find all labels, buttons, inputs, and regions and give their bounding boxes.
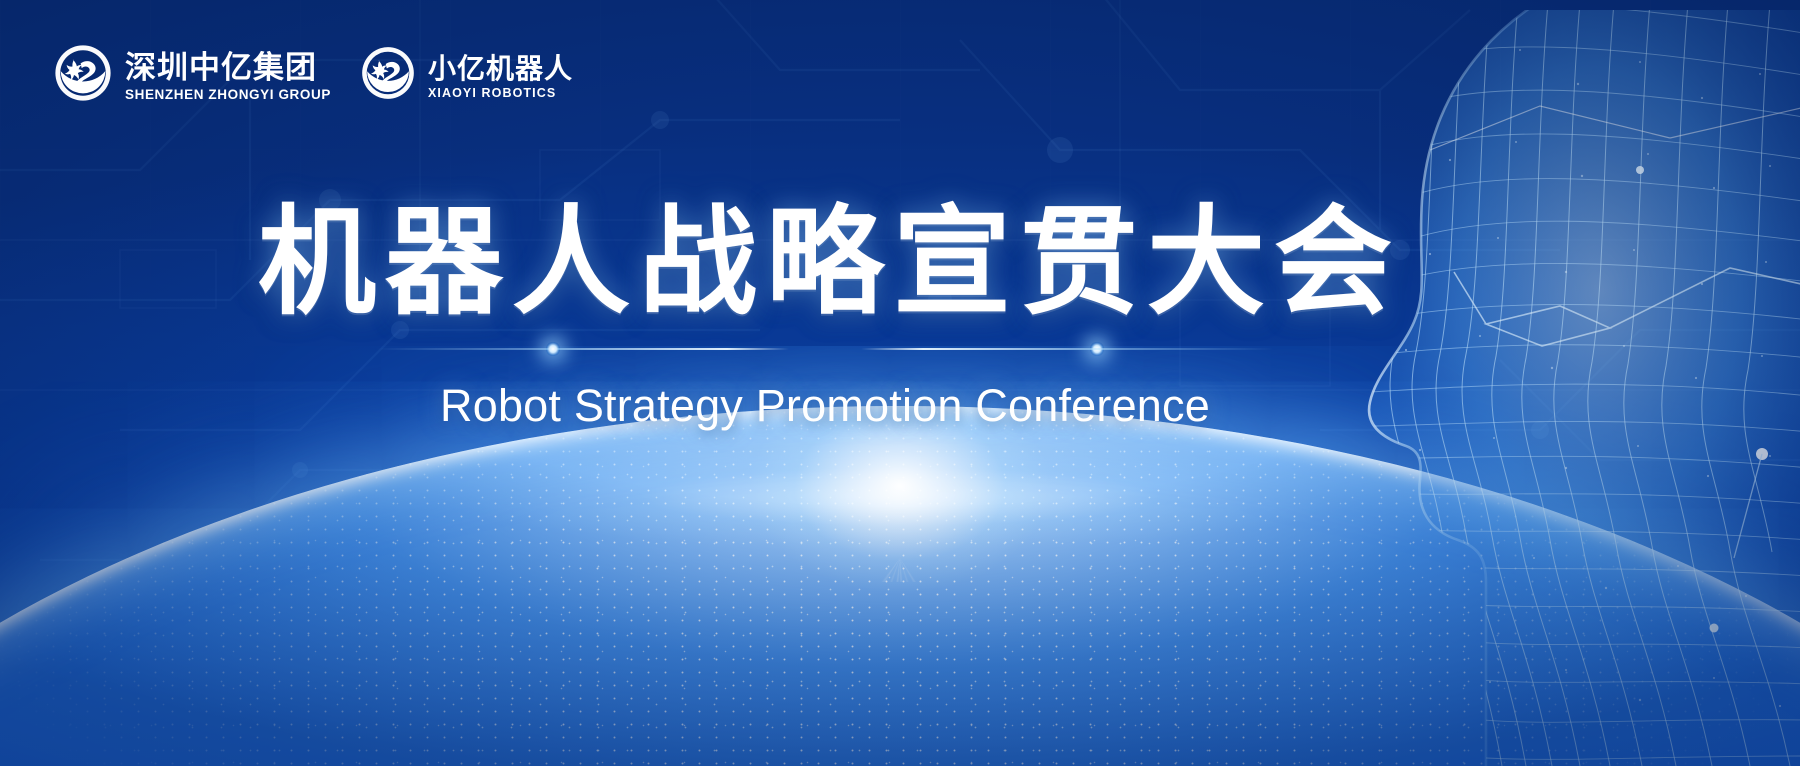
conference-banner: 深圳中亿集团 SHENZHEN ZHONGYI GROUP 小亿机器人 XIAO… [0, 0, 1800, 766]
zhongyi-emblem-icon [52, 42, 114, 104]
page-title: 机器人战略宣贯大会 [249, 196, 1401, 328]
logo-group: 深圳中亿集团 SHENZHEN ZHONGYI GROUP 小亿机器人 XIAO… [52, 42, 573, 104]
page-subtitle: Robot Strategy Promotion Conference [440, 380, 1210, 432]
xiaoyi-text-block: 小亿机器人 XIAOYI ROBOTICS [428, 54, 573, 102]
glow-divider [375, 340, 1275, 358]
glow-divider-line-left [375, 348, 789, 350]
logo-xiaoyi-robotics: 小亿机器人 XIAOYI ROBOTICS [359, 44, 573, 102]
xiaoyi-chinese-name: 小亿机器人 [428, 54, 573, 83]
xiaoyi-english-name: XIAOYI ROBOTICS [428, 87, 573, 101]
zhongyi-english-name: SHENZHEN ZHONGYI GROUP [125, 88, 331, 103]
logo-zhongyi-group: 深圳中亿集团 SHENZHEN ZHONGYI GROUP [52, 42, 331, 104]
zhongyi-text-block: 深圳中亿集团 SHENZHEN ZHONGYI GROUP [125, 52, 331, 104]
headline-block: 机器人战略宣贯大会 Robot Strategy Promotion Confe… [0, 196, 1800, 432]
glow-divider-line-right [861, 348, 1275, 350]
zhongyi-chinese-name: 深圳中亿集团 [125, 52, 331, 84]
xiaoyi-emblem-icon [359, 44, 417, 102]
glow-dot-left [546, 342, 560, 356]
